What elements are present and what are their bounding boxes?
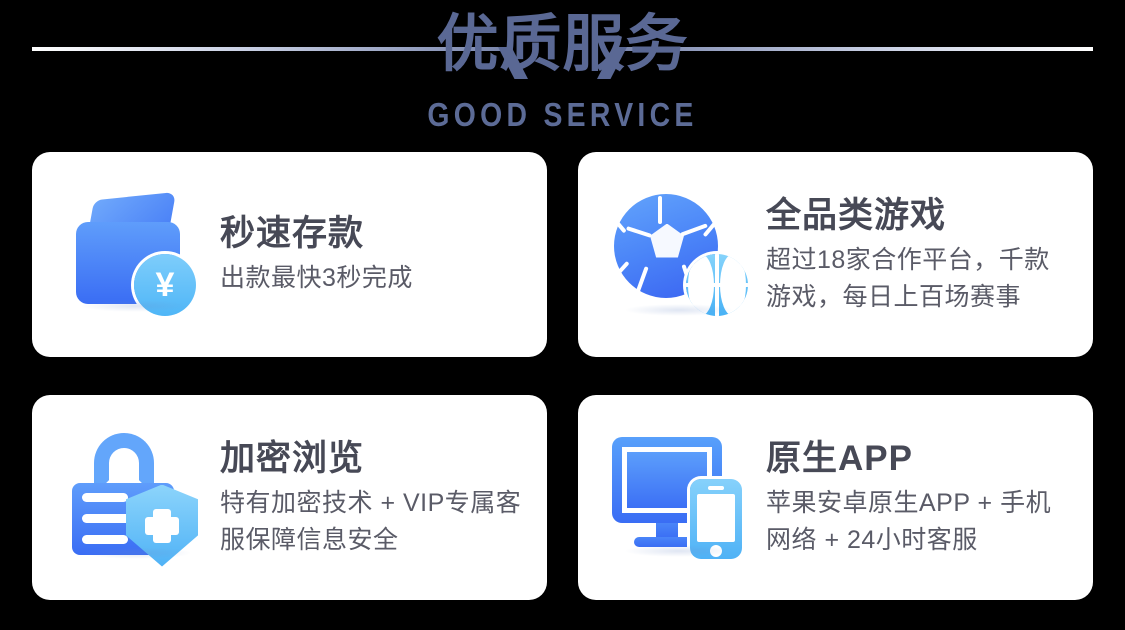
card-subtitle-line1: 特有加密技术 + VIP专属客 bbox=[220, 489, 521, 517]
card-subtitle-line1: 出款最快3秒完成 bbox=[220, 264, 413, 292]
feature-card-text: 加密浏览 特有加密技术 + VIP专属客 服保障信息安全 bbox=[220, 437, 547, 559]
monitor-phone-icon bbox=[608, 423, 758, 573]
card-title: 加密浏览 bbox=[220, 437, 533, 481]
page-subtitle: GOOD SERVICE bbox=[79, 96, 1047, 134]
feature-card-grid: ¥ 秒速存款 出款最快3秒完成 bbox=[32, 152, 1093, 600]
card-title: 原生APP bbox=[766, 437, 1079, 481]
icon-shadow bbox=[80, 300, 190, 312]
card-subtitle: 特有加密技术 + VIP专属客 服保障信息安全 bbox=[220, 485, 533, 559]
soccer-basketball-icon bbox=[608, 180, 758, 330]
feature-card-native-app[interactable]: 原生APP 苹果安卓原生APP + 手机 网络 + 24小时客服 bbox=[578, 395, 1093, 600]
promo-page: 优质服务 GOOD SERVICE ¥ 秒速存款 出款最快3秒完成 bbox=[0, 0, 1125, 630]
wallet-coin-icon: ¥ bbox=[62, 180, 212, 330]
feature-card-text: 秒速存款 出款最快3秒完成 bbox=[220, 212, 547, 297]
card-subtitle: 超过18家合作平台，千款 游戏，每日上百场赛事 bbox=[766, 242, 1079, 316]
feature-card-encryption[interactable]: 加密浏览 特有加密技术 + VIP专属客 服保障信息安全 bbox=[32, 395, 547, 600]
card-subtitle: 苹果安卓原生APP + 手机 网络 + 24小时客服 bbox=[766, 485, 1079, 559]
card-subtitle-line2: 服保障信息安全 bbox=[220, 522, 533, 559]
feature-card-text: 全品类游戏 超过18家合作平台，千款 游戏，每日上百场赛事 bbox=[766, 194, 1093, 316]
feature-card-games[interactable]: 全品类游戏 超过18家合作平台，千款 游戏，每日上百场赛事 bbox=[578, 152, 1093, 357]
lock-shield-icon bbox=[62, 423, 212, 573]
icon-shadow bbox=[624, 545, 734, 557]
card-subtitle-line1: 苹果安卓原生APP + 手机 bbox=[766, 489, 1051, 517]
page-header: 优质服务 GOOD SERVICE bbox=[0, 0, 1125, 142]
icon-shadow bbox=[624, 304, 734, 316]
card-subtitle: 出款最快3秒完成 bbox=[220, 260, 533, 297]
card-title: 全品类游戏 bbox=[766, 194, 1079, 238]
icon-shadow bbox=[82, 547, 192, 559]
page-title: 优质服务 bbox=[0, 8, 1125, 82]
feature-card-deposit[interactable]: ¥ 秒速存款 出款最快3秒完成 bbox=[32, 152, 547, 357]
card-title: 秒速存款 bbox=[220, 212, 533, 256]
card-subtitle-line2: 网络 + 24小时客服 bbox=[766, 522, 1079, 559]
feature-card-text: 原生APP 苹果安卓原生APP + 手机 网络 + 24小时客服 bbox=[766, 437, 1093, 559]
card-subtitle-line2: 游戏，每日上百场赛事 bbox=[766, 279, 1079, 316]
card-subtitle-line1: 超过18家合作平台，千款 bbox=[766, 246, 1050, 274]
